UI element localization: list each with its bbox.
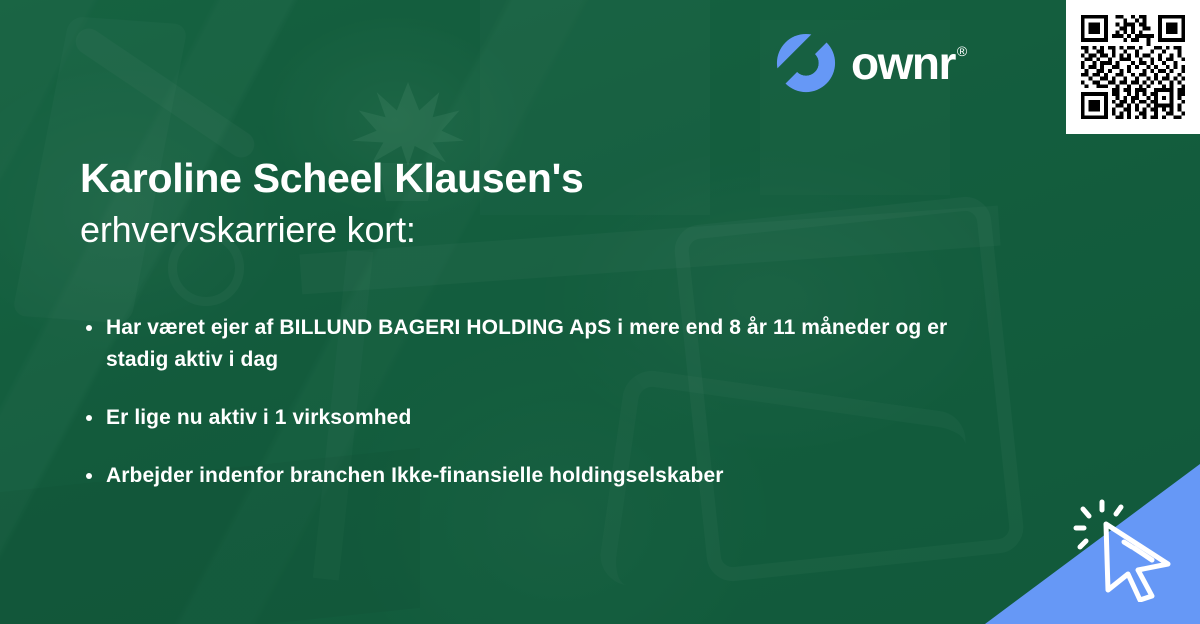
click-cursor-icon xyxy=(1072,498,1184,602)
ownr-logo[interactable]: ownr ® xyxy=(775,32,966,94)
registered-trademark-icon: ® xyxy=(957,44,966,58)
list-item: Er lige nu aktiv i 1 virksomhed xyxy=(84,402,964,434)
bullet-dot-icon xyxy=(86,325,92,331)
bullet-dot-icon xyxy=(86,473,92,479)
ownr-circle-logo-icon xyxy=(775,32,837,94)
business-career-card: ownr ® xyxy=(0,0,1200,624)
page-title: Karoline Scheel Klausen's erhvervskarrie… xyxy=(80,155,584,251)
qr-code xyxy=(1077,11,1189,123)
ownr-wordmark: ownr ® xyxy=(851,40,966,86)
page-title-line1: Karoline Scheel Klausen's xyxy=(80,155,584,202)
list-item-text: Arbejder indenfor branchen Ikke-finansie… xyxy=(106,464,724,487)
qr-code-panel[interactable] xyxy=(1066,0,1200,134)
list-item: Har været ejer af BILLUND BAGERI HOLDING… xyxy=(84,312,964,376)
career-facts-list: Har været ejer af BILLUND BAGERI HOLDING… xyxy=(84,312,964,492)
bullet-dot-icon xyxy=(86,415,92,421)
list-item-text: Er lige nu aktiv i 1 virksomhed xyxy=(106,406,411,429)
list-item: Arbejder indenfor branchen Ikke-finansie… xyxy=(84,460,964,492)
ownr-wordmark-text: ownr xyxy=(851,40,955,86)
page-title-line2: erhvervskarriere kort: xyxy=(80,208,584,251)
list-item-text: Har været ejer af BILLUND BAGERI HOLDING… xyxy=(106,316,947,371)
